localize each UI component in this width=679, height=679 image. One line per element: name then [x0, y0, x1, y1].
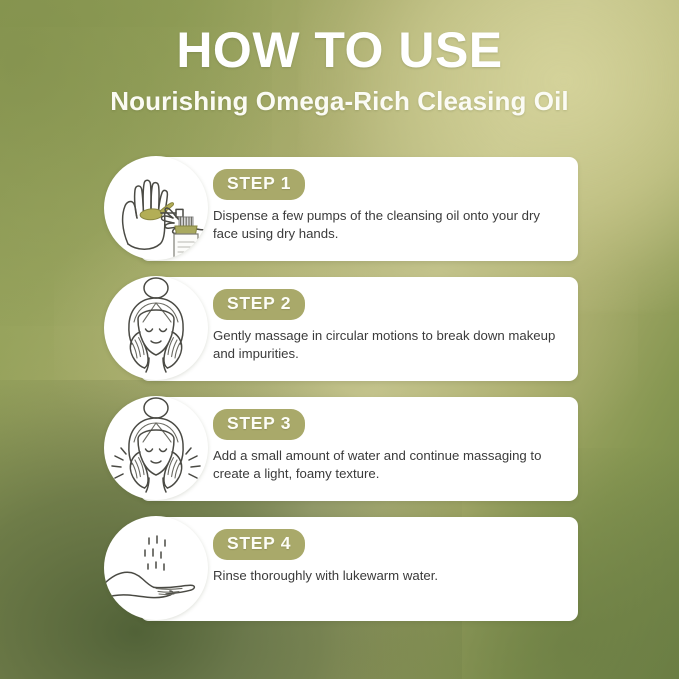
step-description: Dispense a few pumps of the cleansing oi…	[213, 207, 560, 244]
steps-list: STEP 1 Dispense a few pumps of the clean…	[0, 157, 679, 621]
page-subtitle: Nourishing Omega-Rich Cleasing Oil	[0, 87, 679, 116]
list-item: STEP 3 Add a small amount of water and c…	[0, 397, 679, 501]
hand-with-oil-pump-bottle-icon	[104, 156, 208, 260]
list-item: STEP 1 Dispense a few pumps of the clean…	[0, 157, 679, 261]
step-card-content: STEP 4 Rinse thoroughly with lukewarm wa…	[213, 529, 560, 611]
status-badge: STEP 1	[213, 169, 305, 200]
how-to-use-poster: HOW TO USE Nourishing Omega-Rich Cleasin…	[0, 0, 679, 679]
step-card-content: STEP 1 Dispense a few pumps of the clean…	[213, 169, 560, 251]
poster-header: HOW TO USE Nourishing Omega-Rich Cleasin…	[0, 24, 679, 116]
step-description: Gently massage in circular motions to br…	[213, 327, 560, 364]
status-badge: STEP 4	[213, 529, 305, 560]
page-title: HOW TO USE	[0, 24, 679, 76]
status-badge: STEP 2	[213, 289, 305, 320]
step-card-content: STEP 3 Add a small amount of water and c…	[213, 409, 560, 491]
step-description: Add a small amount of water and continue…	[213, 447, 560, 484]
step-card-content: STEP 2 Gently massage in circular motion…	[213, 289, 560, 371]
face-massage-hands-icon	[104, 276, 208, 380]
hand-with-water-droplets-icon	[104, 516, 208, 620]
face-massage-foam-icon	[104, 396, 208, 500]
list-item: STEP 2 Gently massage in circular motion…	[0, 277, 679, 381]
step-description: Rinse thoroughly with lukewarm water.	[213, 567, 560, 586]
list-item: STEP 4 Rinse thoroughly with lukewarm wa…	[0, 517, 679, 621]
status-badge: STEP 3	[213, 409, 305, 440]
